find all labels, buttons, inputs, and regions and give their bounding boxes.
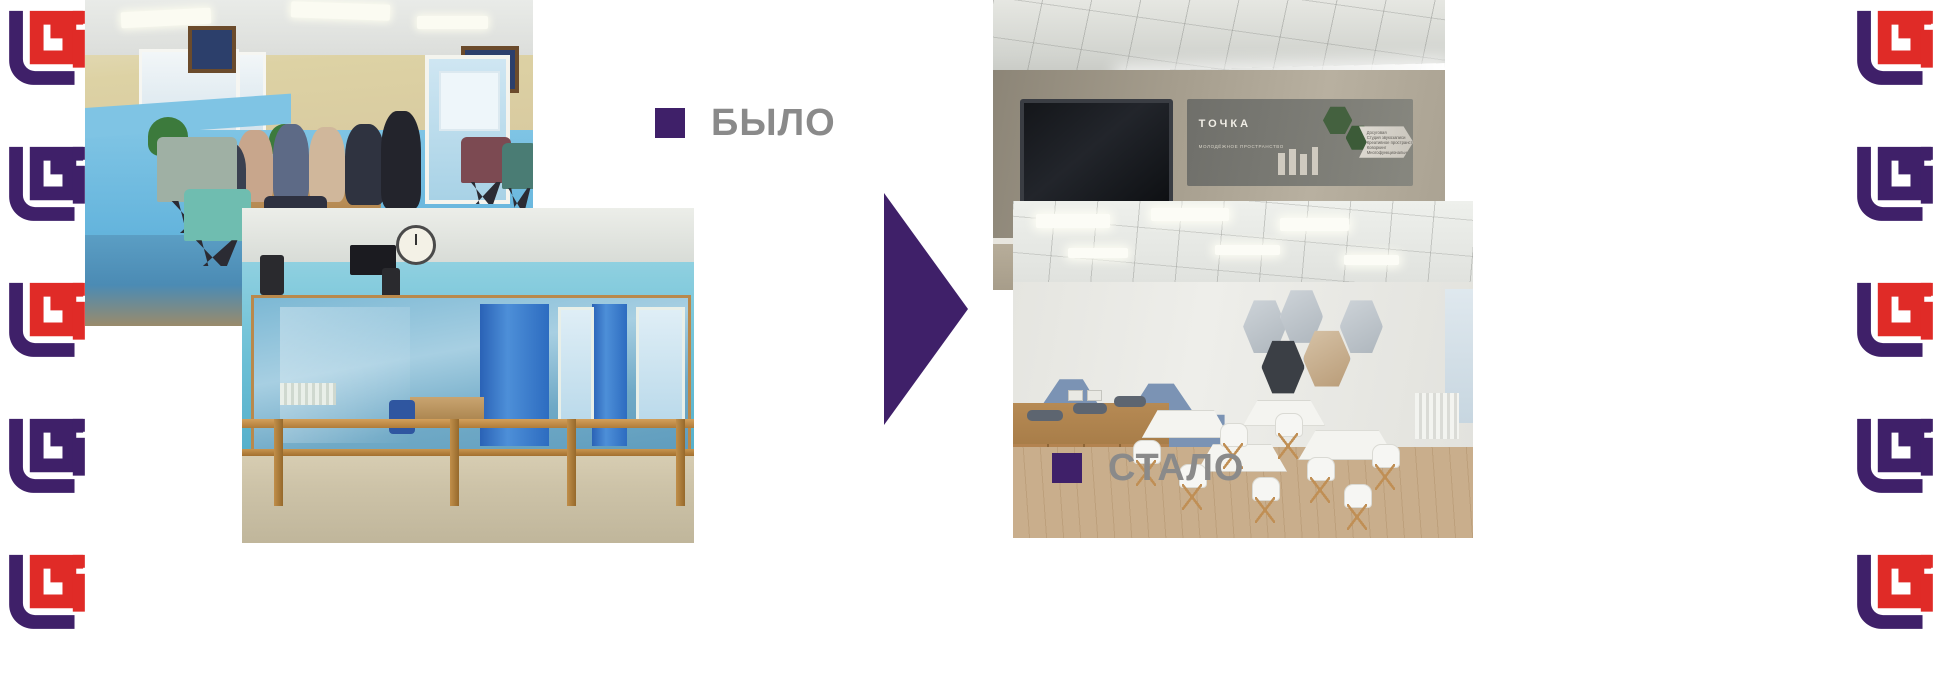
brand-logo (4, 140, 90, 226)
wayfinding-sign: ТОЧКА МОЛОДЁЖНОЕ ПРОСТРАНСТВО Досуговая … (1187, 99, 1413, 186)
brand-logo (1852, 412, 1938, 498)
brand-logo (4, 548, 90, 634)
brand-logo (4, 412, 90, 498)
sign-subtitle: МОЛОДЁЖНОЕ ПРОСТРАНСТВО (1199, 144, 1284, 149)
label-before-text: БЫЛО (711, 104, 836, 142)
label-after: СТАЛО (1052, 449, 1244, 487)
brand-logo (1852, 276, 1938, 362)
bullet-square-icon (1052, 453, 1082, 483)
before-after-arrow (884, 193, 968, 425)
sign-direction-3: Креативное пространство (1367, 140, 1417, 145)
brand-logo (1852, 548, 1938, 634)
logo-watermark-column-right (1848, 0, 1943, 687)
wall-tv (1020, 99, 1173, 211)
label-after-text: СТАЛО (1108, 449, 1244, 487)
brand-logo (1852, 4, 1938, 90)
logo-watermark-column-left (0, 0, 95, 687)
brand-logo (1852, 140, 1938, 226)
label-before: БЫЛО (655, 104, 836, 142)
bullet-square-icon (655, 108, 685, 138)
brand-logo (4, 276, 90, 362)
photo-before-dance-hall (242, 208, 694, 543)
slide-canvas: ТОЧКА МОЛОДЁЖНОЕ ПРОСТРАНСТВО Досуговая … (0, 0, 1943, 687)
brand-logo (4, 4, 90, 90)
sign-title: ТОЧКА (1199, 118, 1251, 130)
